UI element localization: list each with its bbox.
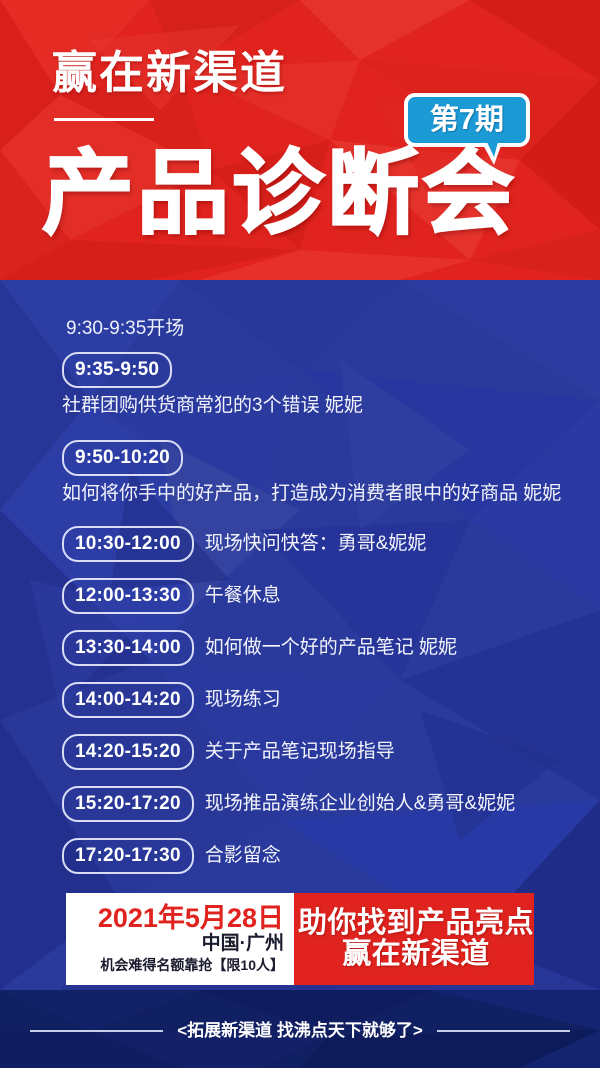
schedule-description: 关于产品笔记现场指导 — [205, 741, 395, 763]
schedule-description: 午餐休息 — [205, 585, 281, 607]
schedule-time-pill: 14:20-15:20 — [62, 734, 194, 770]
schedule-row[interactable]: 9:35-9:50 社群团购供货商常犯的3个错误 妮妮 — [62, 352, 363, 417]
slogan-line-1: 助你找到产品亮点 — [298, 908, 534, 939]
event-info-banner: 2021年5月28日 中国·广州 机会难得名额靠抢【限10人】 助你找到产品亮点… — [66, 893, 534, 985]
schedule-time-pill: 10:30-12:00 — [62, 526, 194, 562]
schedule-description: 现场推品演练企业创始人&勇哥&妮妮 — [205, 793, 515, 815]
banner-slogan-panel: 助你找到产品亮点 赢在新渠道 — [294, 893, 534, 985]
schedule-time-pill: 14:00-14:20 — [62, 682, 194, 718]
banner-date-panel: 2021年5月28日 中国·广州 机会难得名额靠抢【限10人】 — [66, 893, 294, 985]
schedule-row[interactable]: 10:30-12:00 现场快问快答：勇哥&妮妮 — [62, 526, 426, 562]
event-location: 中国·广州 — [202, 932, 284, 956]
schedule-list: 9:30-9:35开场 9:35-9:50 社群团购供货商常犯的3个错误 妮妮 … — [0, 280, 600, 880]
footer-text: <拓展新渠道 找沸点天下就够了> — [177, 1022, 423, 1039]
schedule-time-pill: 13:30-14:00 — [62, 630, 194, 666]
schedule-row[interactable]: 15:20-17:20 现场推品演练企业创始人&勇哥&妮妮 — [62, 786, 515, 822]
poster-header: 赢在新渠道 产品诊断会 第7期 — [0, 0, 600, 280]
schedule-time-pill: 17:20-17:30 — [62, 838, 194, 874]
schedule-row[interactable]: 17:20-17:30 合影留念 — [62, 838, 281, 874]
event-poster: 赢在新渠道 产品诊断会 第7期 — [0, 0, 600, 1068]
footer-divider-right — [437, 1030, 570, 1032]
footer-tagline: <拓展新渠道 找沸点天下就够了> — [0, 1022, 600, 1039]
schedule-row[interactable]: 12:00-13:30 午餐休息 — [62, 578, 281, 614]
schedule-row[interactable]: 14:00-14:20 现场练习 — [62, 682, 281, 718]
schedule-row[interactable]: 14:20-15:20 关于产品笔记现场指导 — [62, 734, 395, 770]
schedule-time-pill: 9:50-10:20 — [62, 440, 183, 476]
edition-badge-label: 第7期 — [404, 93, 530, 147]
badge-tail-icon — [482, 143, 502, 165]
schedule-description: 合影留念 — [205, 845, 281, 867]
schedule-time-pill: 12:00-13:30 — [62, 578, 194, 614]
schedule-description: 现场快问快答：勇哥&妮妮 — [205, 533, 427, 555]
schedule-description: 如何将你手中的好产品，打造成为消费者眼中的好商品 妮妮 — [62, 483, 561, 505]
schedule-row[interactable]: 9:50-10:20 如何将你手中的好产品，打造成为消费者眼中的好商品 妮妮 — [62, 440, 561, 505]
schedule-description: 现场练习 — [205, 689, 281, 711]
slogan-line-2: 赢在新渠道 — [342, 939, 490, 970]
schedule-row[interactable]: 13:30-14:00 如何做一个好的产品笔记 妮妮 — [62, 630, 457, 666]
schedule-description: 社群团购供货商常犯的3个错误 妮妮 — [62, 395, 363, 417]
schedule-intro: 9:30-9:35开场 — [66, 319, 184, 338]
schedule-time-pill: 15:20-17:20 — [62, 786, 194, 822]
header-kicker: 赢在新渠道 — [52, 50, 287, 95]
page-title: 产品诊断会 — [42, 148, 517, 240]
footer-divider-left — [30, 1030, 163, 1032]
edition-badge: 第7期 — [404, 93, 530, 151]
header-rule — [54, 118, 154, 121]
schedule-description: 如何做一个好的产品笔记 妮妮 — [205, 637, 457, 659]
event-capacity-note: 机会难得名额靠抢【限10人】 — [100, 956, 284, 974]
event-date: 2021年5月28日 — [98, 904, 284, 932]
schedule-time-pill: 9:35-9:50 — [62, 352, 172, 388]
